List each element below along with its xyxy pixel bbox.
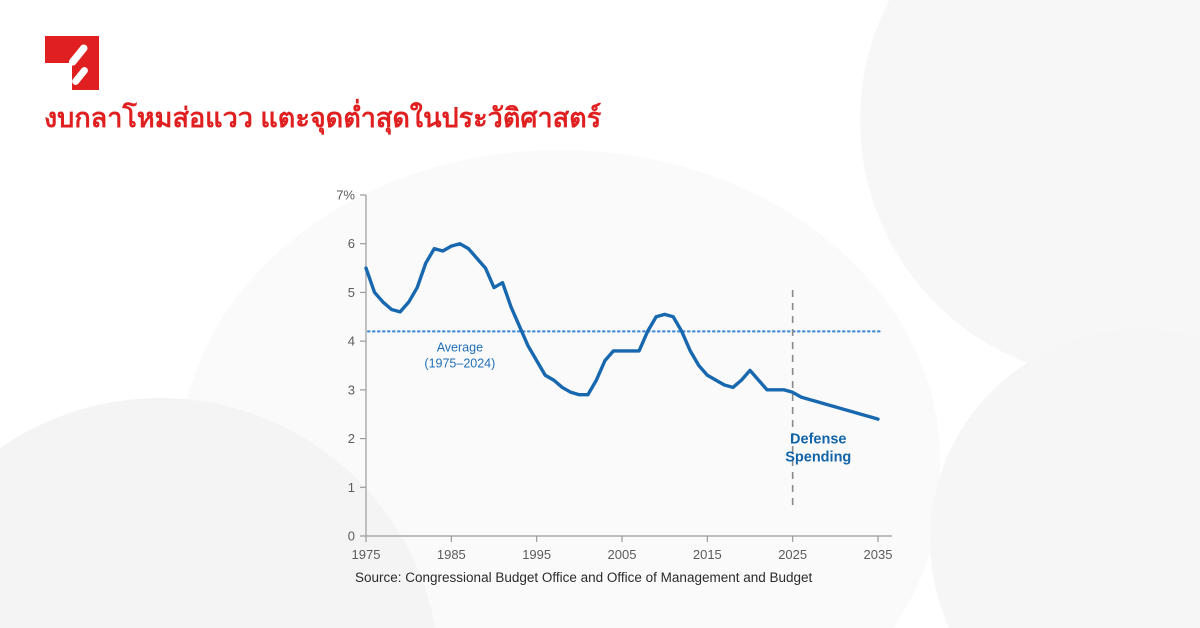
series-label-line1: Defense [790, 431, 846, 447]
x-axis-tick-label: 2005 [608, 547, 637, 562]
average-label-line2: (1975–2024) [424, 356, 495, 370]
y-axis-tick-label: 1 [348, 480, 355, 495]
x-axis-tick-label: 1985 [437, 547, 466, 562]
y-axis-tick-label: 7% [336, 188, 355, 203]
x-axis-tick-label: 2015 [693, 547, 722, 562]
infographic-canvas: งบกลาโหมส่อแวว แตะจุดต่ำสุดในประวัติศาสต… [0, 0, 1200, 628]
y-axis-tick-label: 5 [348, 285, 355, 300]
y-axis-tick-label: 4 [348, 334, 355, 349]
y-axis-tick-label: 2 [348, 431, 355, 446]
series-label-line2: Spending [785, 449, 851, 465]
average-label-line1: Average [437, 340, 483, 354]
source-caption: Source: Congressional Budget Office and … [355, 570, 812, 585]
x-axis-tick-label: 1975 [352, 547, 381, 562]
x-axis-tick-label: 1995 [522, 547, 551, 562]
y-axis-tick-label: 3 [348, 382, 355, 397]
chart-defense-spending: 01234567%1975198519952005201520252035Ave… [0, 0, 1200, 628]
x-axis-tick-label: 2035 [864, 547, 893, 562]
y-axis-tick-label: 0 [348, 529, 355, 544]
x-axis-tick-label: 2025 [778, 547, 807, 562]
y-axis-tick-label: 6 [348, 236, 355, 251]
